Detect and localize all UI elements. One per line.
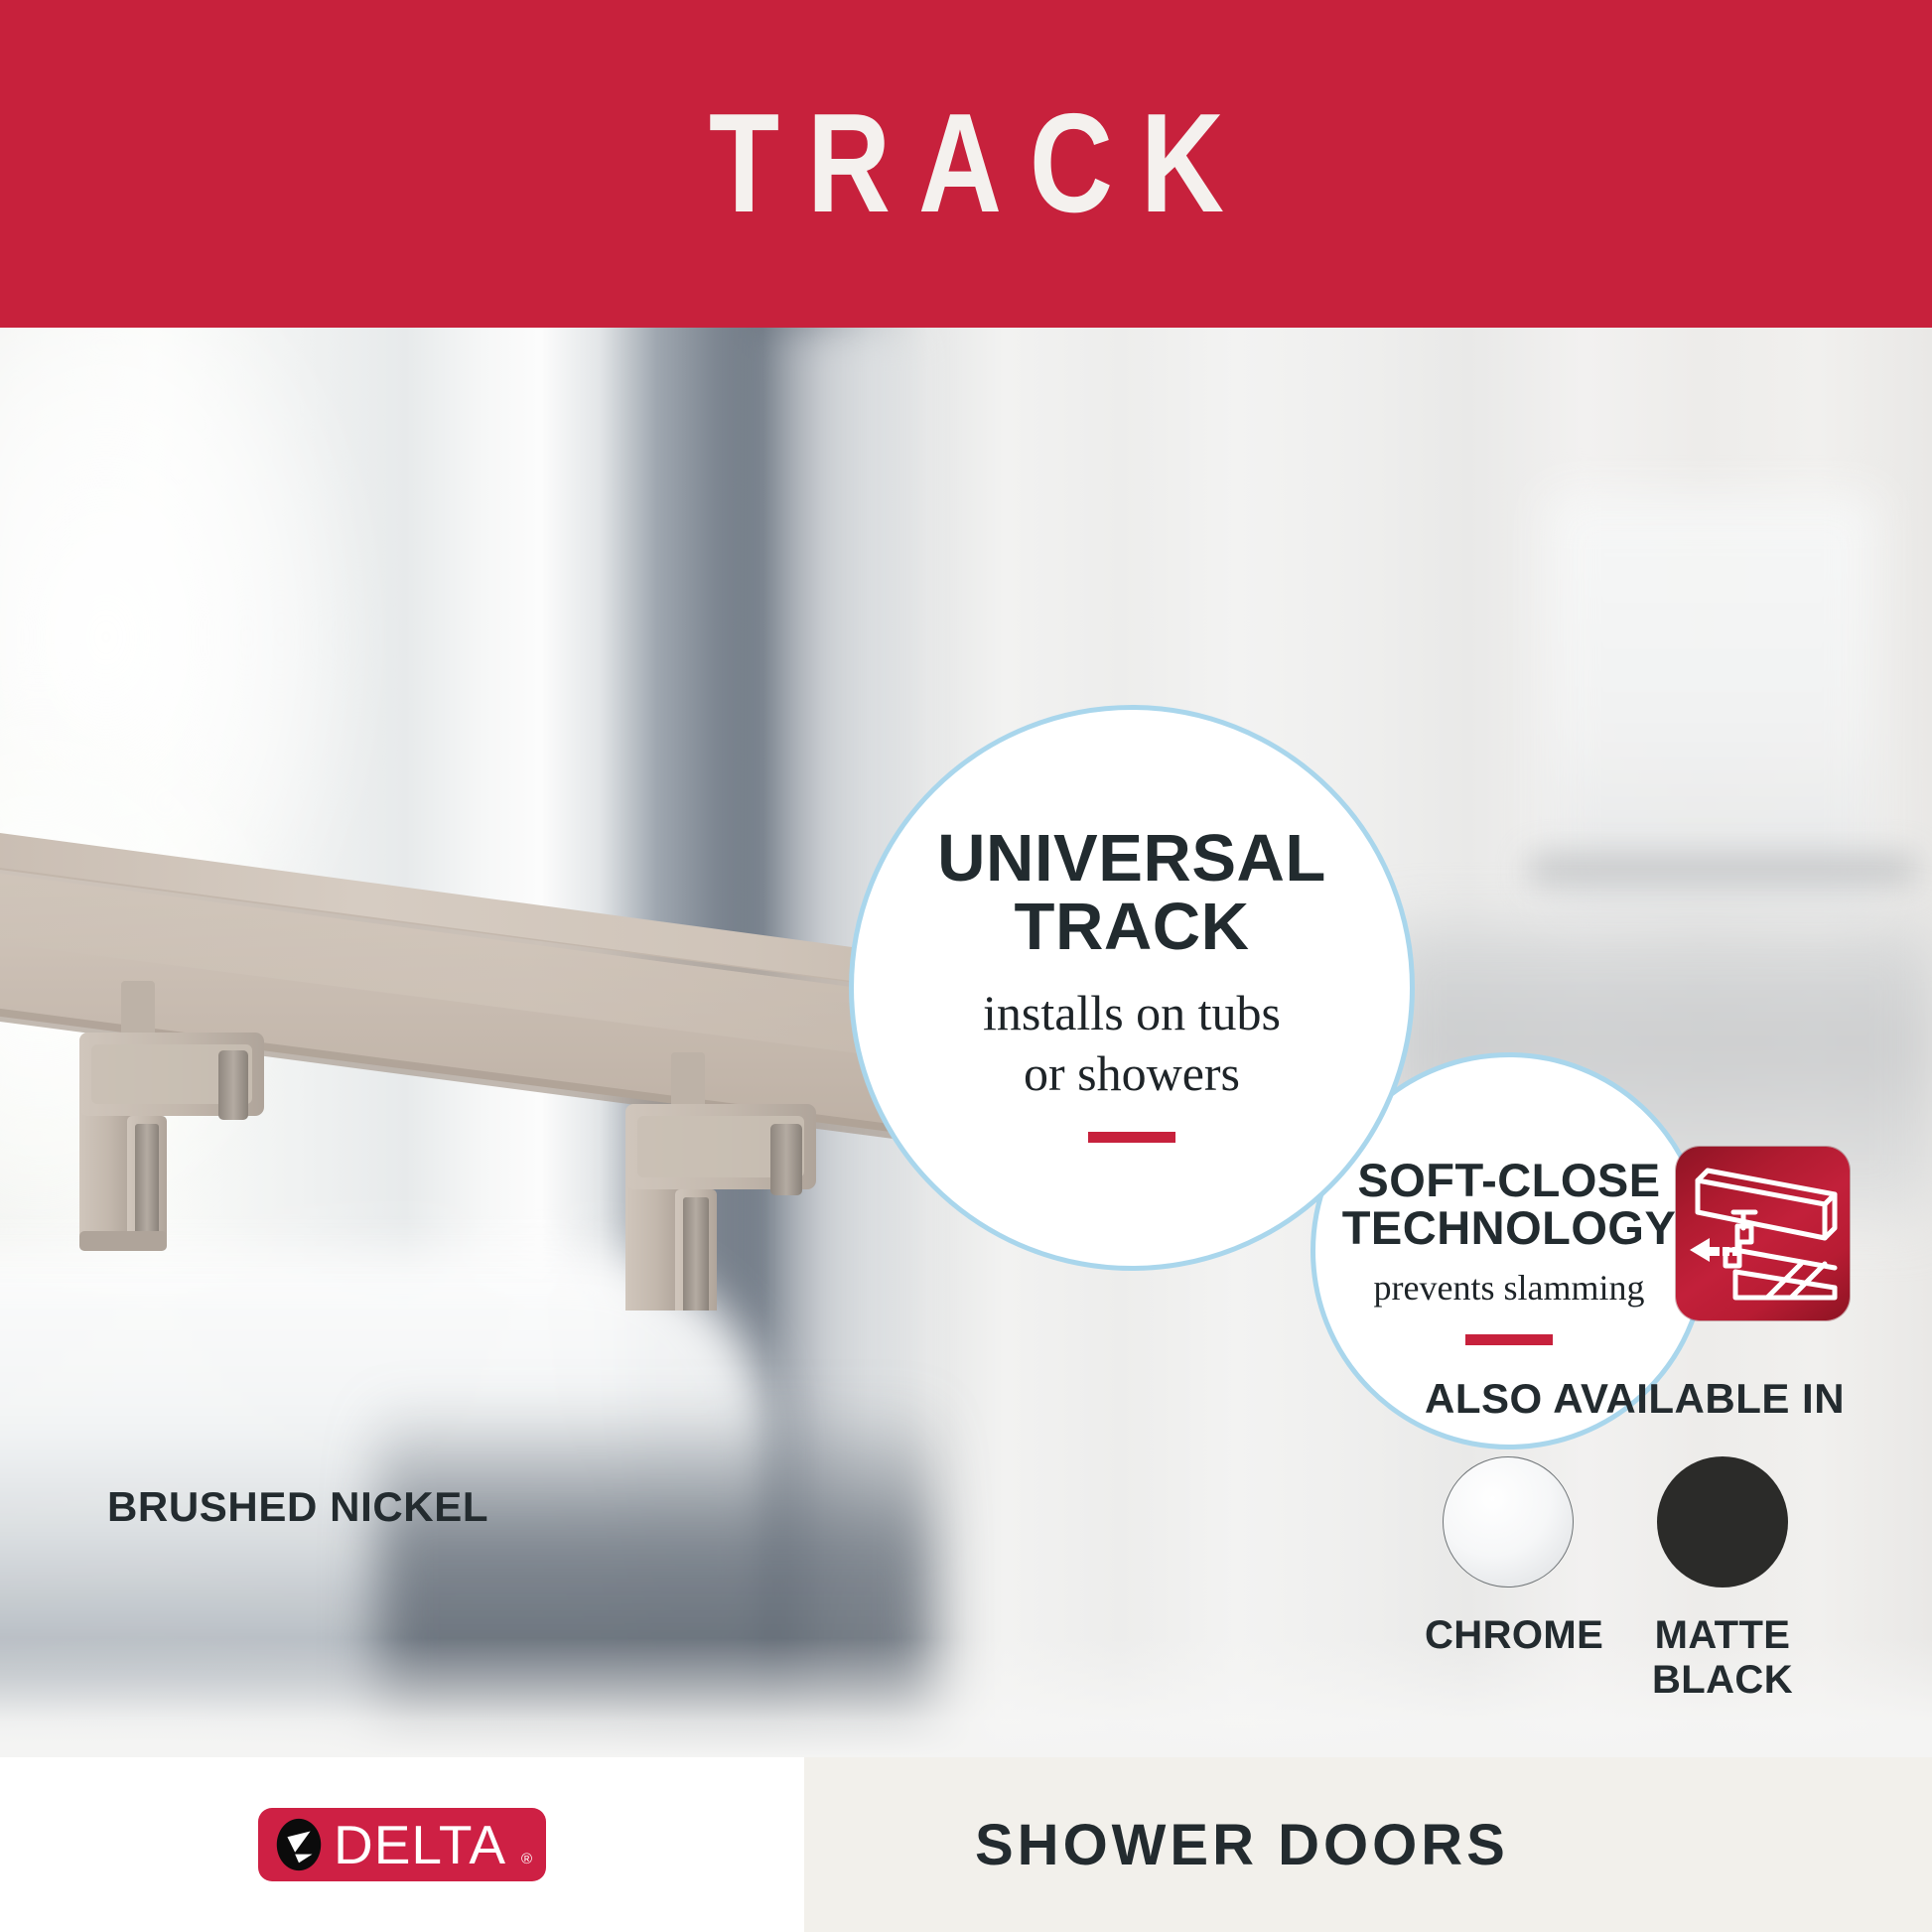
swatch-row: CHROME MATTE BLACK (1425, 1456, 1812, 1703)
soft-close-track-icon (1676, 1147, 1850, 1320)
matte-black-label: MATTE BLACK (1639, 1613, 1806, 1703)
callout-heading-line1: SOFT-CLOSE (1342, 1157, 1677, 1204)
callout-heading-line2: TECHNOLOGY (1342, 1204, 1677, 1252)
footer: DELTA ® SHOWER DOORS (0, 1757, 1932, 1932)
callout-divider (1088, 1132, 1175, 1143)
callout-heading-line1: UNIVERSAL (937, 825, 1326, 893)
footer-category-panel: SHOWER DOORS (804, 1757, 1932, 1932)
matte-black-swatch[interactable] (1657, 1456, 1788, 1587)
delta-wordmark: DELTA (334, 1818, 506, 1872)
chrome-label: CHROME (1425, 1613, 1591, 1658)
callout-subtext-line2: or showers (983, 1043, 1281, 1104)
delta-logo[interactable]: DELTA ® (258, 1808, 546, 1881)
finish-option-chrome[interactable]: CHROME (1425, 1456, 1591, 1703)
callout-subtext-line1: prevents slamming (1374, 1267, 1645, 1311)
background-shelf (1549, 496, 1876, 913)
callout-heading: UNIVERSAL TRACK (937, 825, 1326, 961)
callout-subtext: installs on tubs or showers (983, 983, 1281, 1104)
callout-subtext: prevents slamming (1374, 1267, 1645, 1311)
callout-heading-line2: TRACK (937, 894, 1326, 961)
available-finishes: ALSO AVAILABLE IN CHROME MATTE BLACK (1425, 1375, 1812, 1703)
finish-caption: BRUSHED NICKEL (107, 1483, 488, 1531)
footer-category-label: SHOWER DOORS (975, 1812, 1509, 1878)
background-shelf-edge (1529, 854, 1916, 888)
chrome-swatch[interactable] (1443, 1456, 1574, 1587)
soft-close-glyph (1676, 1147, 1850, 1320)
callout-universal-track: UNIVERSAL TRACK installs on tubs or show… (849, 705, 1415, 1271)
footer-brand-panel: DELTA ® (0, 1757, 804, 1932)
poster-canvas: TRACK (0, 0, 1932, 1932)
header-banner: TRACK (0, 0, 1932, 328)
callout-divider (1465, 1334, 1553, 1345)
finish-option-matte-black[interactable]: MATTE BLACK (1639, 1456, 1806, 1703)
matte-black-label-line1: MATTE (1639, 1613, 1806, 1658)
matte-black-label-line2: BLACK (1639, 1658, 1806, 1703)
callout-heading: SOFT-CLOSE TECHNOLOGY (1342, 1157, 1677, 1252)
registered-mark: ® (521, 1851, 532, 1867)
finishes-title: ALSO AVAILABLE IN (1425, 1375, 1812, 1423)
callout-subtext-line1: installs on tubs (983, 983, 1281, 1043)
delta-triangle-icon (270, 1816, 328, 1873)
page-title: TRACK (681, 93, 1252, 234)
product-photo: BRUSHED NICKEL (0, 328, 1932, 1757)
